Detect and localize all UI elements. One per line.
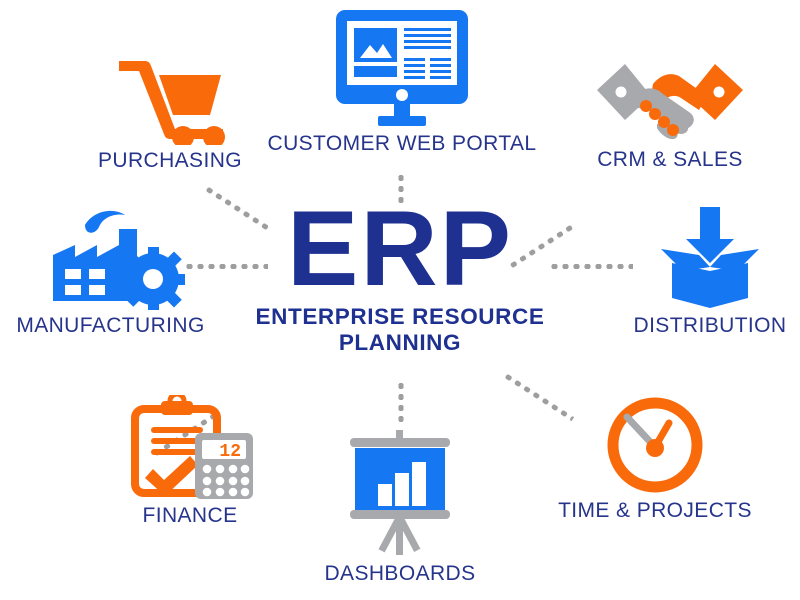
box-arrow-down-icon: [655, 205, 765, 310]
node-label-distribution: DISTRIBUTION: [634, 314, 787, 338]
node-finance[interactable]: 12 FINANCE: [95, 395, 285, 528]
erp-subtitle-line2: PLANNING: [256, 330, 545, 356]
clipboard-calculator-icon: 12: [123, 395, 258, 500]
node-distribution[interactable]: DISTRIBUTION: [620, 205, 800, 338]
erp-acronym: ERP: [287, 198, 513, 300]
connector-dashboards: [399, 381, 404, 427]
node-purchasing[interactable]: PURCHASING: [75, 55, 265, 173]
handshake-icon: [595, 52, 745, 144]
erp-center: ERP ENTERPRISE RESOURCE PLANNING: [250, 198, 550, 356]
node-label-customer-web-portal: CUSTOMER WEB PORTAL: [268, 132, 537, 156]
node-customer-web-portal[interactable]: CUSTOMER WEB PORTAL: [257, 8, 547, 156]
node-label-finance: FINANCE: [143, 504, 238, 528]
presentation-chart-icon: [340, 428, 460, 558]
node-label-time-projects: TIME & PROJECTS: [558, 499, 752, 523]
erp-diagram: ERP ENTERPRISE RESOURCE PLANNING PURCHAS…: [0, 0, 800, 600]
node-dashboards[interactable]: DASHBOARDS: [310, 428, 490, 586]
monitor-icon: [334, 8, 470, 128]
erp-subtitle: ENTERPRISE RESOURCE PLANNING: [256, 304, 545, 356]
node-manufacturing[interactable]: MANUFACTURING: [8, 205, 213, 338]
node-label-dashboards: DASHBOARDS: [324, 562, 475, 586]
node-label-purchasing: PURCHASING: [98, 149, 242, 173]
node-time-projects[interactable]: TIME & PROJECTS: [545, 395, 765, 523]
node-crm-sales[interactable]: CRM & SALES: [570, 52, 770, 172]
erp-subtitle-line1: ENTERPRISE RESOURCE: [256, 304, 545, 330]
shopping-cart-icon: [115, 55, 225, 145]
clock-icon: [605, 395, 705, 495]
calculator-display: 12: [219, 442, 241, 462]
factory-gear-icon: [31, 205, 191, 310]
node-label-manufacturing: MANUFACTURING: [16, 314, 204, 338]
node-label-crm-sales: CRM & SALES: [597, 148, 743, 172]
